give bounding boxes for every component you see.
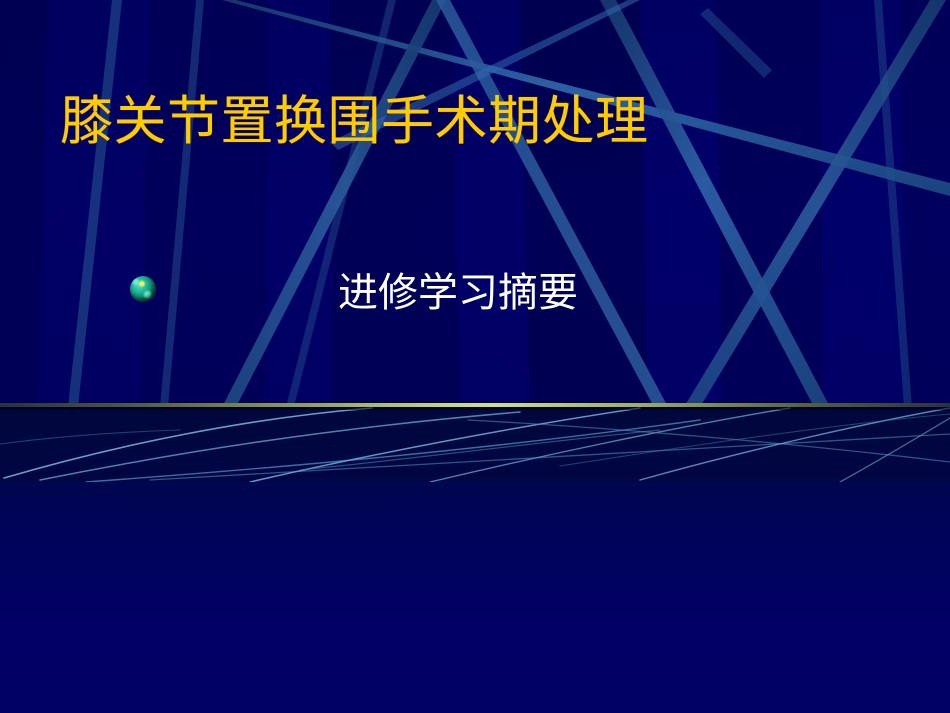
presentation-slide: 膝关节置换围手术期处理 进修学习摘要 — [0, 0, 950, 713]
slide-subtitle-text: 进修学习摘要 — [338, 260, 578, 318]
slide-title-text: 膝关节置换围手术期处理 — [60, 95, 649, 151]
slide-title: 膝关节置换围手术期处理 — [60, 84, 760, 162]
green-sphere-bullet-icon — [130, 276, 156, 302]
divider-shadow — [0, 407, 950, 410]
slide-subtitle-row: 进修学习摘要 — [130, 262, 830, 316]
